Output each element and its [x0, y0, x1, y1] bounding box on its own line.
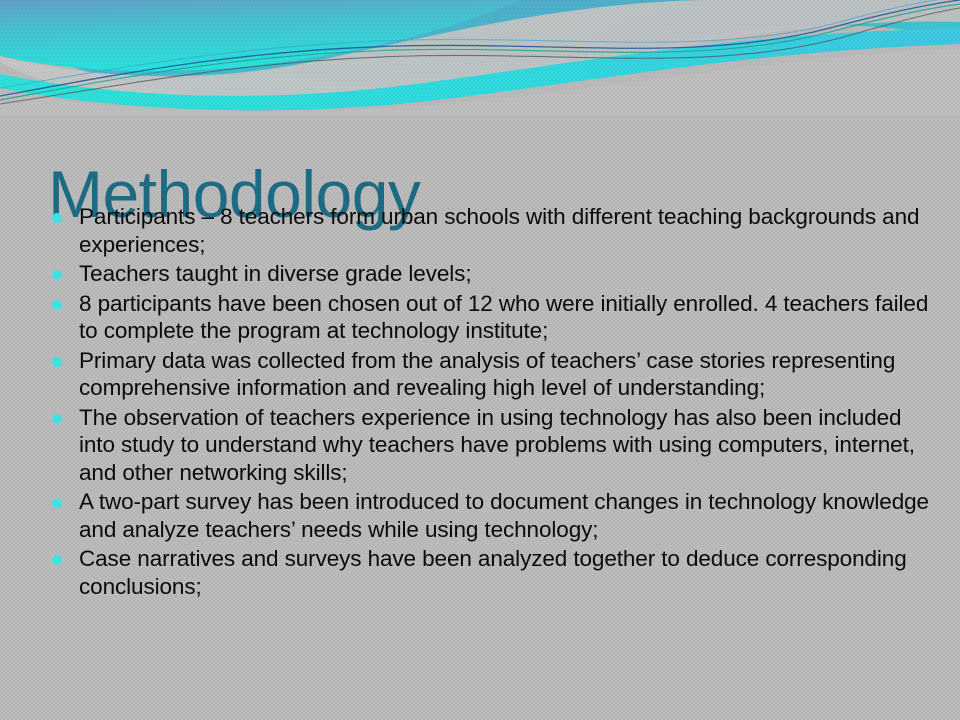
list-item-text: A two-part survey has been introduced to…: [79, 488, 932, 543]
bullet-dot-icon: [52, 300, 62, 310]
list-item: Teachers taught in diverse grade levels;: [52, 260, 932, 288]
list-item-text: Case narratives and surveys have been an…: [79, 545, 932, 600]
bullet-dot-icon: [52, 498, 62, 508]
bullet-dot-icon: [52, 270, 62, 280]
bullet-dot-icon: [52, 414, 62, 424]
list-item: Participants – 8 teachers form urban sch…: [52, 203, 932, 258]
presentation-slide: Methodology Participants – 8 teachers fo…: [0, 0, 960, 720]
list-item-text: 8 participants have been chosen out of 1…: [79, 290, 932, 345]
bullet-dot-icon: [52, 357, 62, 367]
list-item-text: Teachers taught in diverse grade levels;: [79, 260, 932, 288]
list-item: 8 participants have been chosen out of 1…: [52, 290, 932, 345]
list-item: Case narratives and surveys have been an…: [52, 545, 932, 600]
list-item-text: Primary data was collected from the anal…: [79, 347, 932, 402]
bullet-dot-icon: [52, 555, 62, 565]
bullet-dot-icon: [52, 213, 62, 223]
list-item: Primary data was collected from the anal…: [52, 347, 932, 402]
list-item-text: The observation of teachers experience i…: [79, 404, 932, 487]
decorative-wave-banner: [0, 0, 960, 115]
wave-graphic: [0, 0, 960, 115]
list-item: The observation of teachers experience i…: [52, 404, 932, 487]
list-item-text: Participants – 8 teachers form urban sch…: [79, 203, 932, 258]
list-item: A two-part survey has been introduced to…: [52, 488, 932, 543]
bullet-list: Participants – 8 teachers form urban sch…: [52, 203, 932, 602]
